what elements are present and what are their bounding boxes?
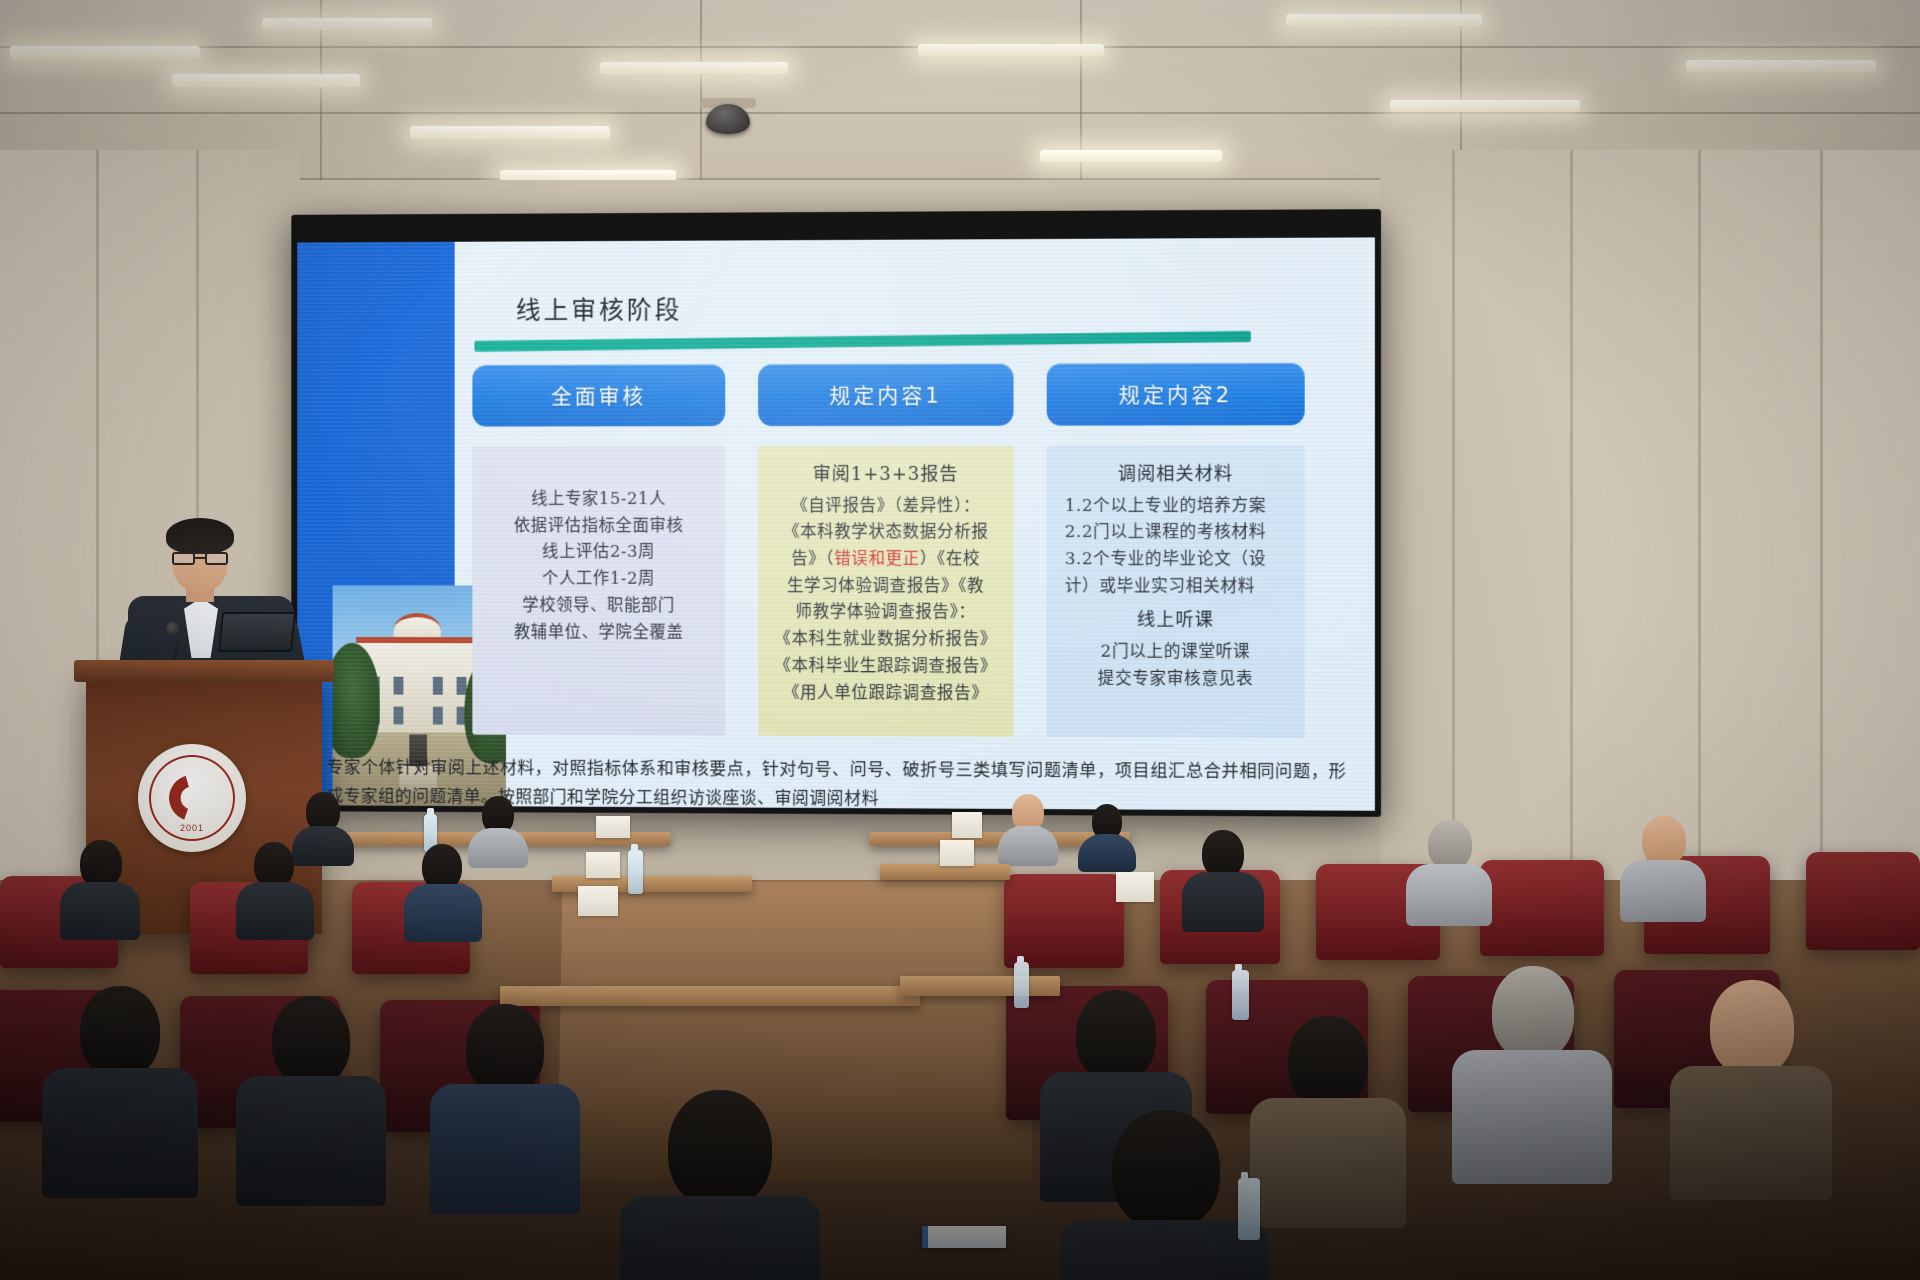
ceiling-light	[918, 44, 1104, 56]
column-1-line: 线上专家15-21人	[482, 486, 715, 513]
desk-row	[900, 976, 1060, 996]
audience-member	[60, 840, 140, 930]
dome-camera-icon	[706, 104, 750, 134]
column-2-line: 《本科毕业生跟踪调查报告》	[768, 653, 1003, 680]
handout-paper	[596, 816, 630, 838]
column-guiding-neirong-1: 规定内容1 审阅1+3+3报告 《自评报告》（差异性）： 《本科教学状态数据分析…	[758, 364, 1013, 737]
ceiling-light	[10, 46, 200, 59]
audience-area	[0, 790, 1920, 1280]
column-2-panel: 审阅1+3+3报告 《自评报告》（差异性）： 《本科教学状态数据分析报 告》（错…	[758, 446, 1013, 737]
column-1-panel: 线上专家15-21人 依据评估指标全面审核 线上评估2-3周 个人工作1-2周 …	[472, 446, 725, 735]
ceiling-light	[1390, 100, 1580, 112]
column-1-line: 依据评估指标全面审核	[482, 513, 715, 540]
handout-paper	[586, 852, 620, 878]
column-2-line: 《本科生就业数据分析报告》	[768, 626, 1003, 653]
column-2-line: 师教学体验调查报告》：	[768, 599, 1003, 626]
column-2-line: 《用人单位跟踪调查报告》	[768, 679, 1003, 706]
audience-member	[1620, 816, 1706, 916]
audience-member	[236, 996, 386, 1196]
column-3-panel: 调阅相关材料 1.2个以上专业的培养方案 2.2门以上课程的考核材料 3.2个专…	[1047, 445, 1305, 737]
audience-member	[620, 1090, 820, 1280]
column-1-line: 学校领导、职能部门	[482, 592, 715, 619]
water-bottle	[628, 850, 643, 894]
ceiling-light	[1040, 150, 1222, 162]
column-2-heading: 审阅1+3+3报告	[768, 460, 1003, 491]
column-1-line: 线上评估2-3周	[482, 539, 715, 566]
column-3-line: 2.2门以上课程的考核材料	[1057, 519, 1295, 546]
projection-screen-frame: 线上审核阶段 全面审核 线上专家15-21人 依据评估指标全面审核 线上评估2-…	[291, 209, 1381, 817]
handout-paper	[940, 840, 974, 866]
column-2-pill-label: 规定内容1	[829, 380, 942, 410]
desk-row	[880, 864, 1010, 880]
lecture-hall-scene: 线上审核阶段 全面审核 线上专家15-21人 依据评估指标全面审核 线上评估2-…	[0, 0, 1920, 1280]
projection-screen: 线上审核阶段 全面审核 线上专家15-21人 依据评估指标全面审核 线上评估2-…	[297, 237, 1375, 810]
audience-member	[996, 794, 1060, 858]
column-2-line: 《本科教学状态数据分析报	[768, 519, 1003, 546]
column-3-pill-label: 规定内容2	[1119, 379, 1233, 409]
auditorium-seat	[1480, 860, 1604, 956]
column-3-line: 计）或毕业实习相关材料	[1057, 573, 1295, 600]
audience-member	[430, 1004, 580, 1204]
column-3-subline: 2门以上的课堂听课	[1057, 639, 1295, 666]
audience-member	[42, 986, 198, 1186]
glasses-icon	[172, 552, 228, 565]
handout-paper	[952, 812, 982, 838]
speaker-hair	[166, 518, 234, 554]
desk-row	[500, 986, 920, 1006]
audience-member	[1182, 830, 1264, 926]
audience-member	[236, 842, 314, 932]
lectern-top-surface	[74, 660, 334, 682]
handout-paper	[1116, 872, 1154, 902]
column-1-line: 教辅单位、学院全覆盖	[482, 619, 715, 646]
column-3-heading: 调阅相关材料	[1057, 460, 1295, 491]
title-underline-rule	[474, 331, 1251, 352]
ceiling-light	[600, 62, 788, 74]
water-bottle	[1232, 970, 1249, 1020]
audience-member	[404, 844, 482, 934]
column-2-line-with-highlight: 告》（错误和更正）《在校	[768, 546, 1003, 573]
column-2-line: 生学习体验调查报告》《教	[768, 573, 1003, 600]
column-guiding-neirong-2: 规定内容2 调阅相关材料 1.2个以上专业的培养方案 2.2门以上课程的考核材料…	[1047, 363, 1305, 738]
audience-member	[1670, 980, 1832, 1190]
column-2-pill: 规定内容1	[758, 364, 1013, 427]
water-bottle	[1014, 962, 1029, 1008]
column-quanmian-shenhe: 全面审核 线上专家15-21人 依据评估指标全面审核 线上评估2-3周 个人工作…	[472, 364, 725, 735]
highlight-text: 错误和更正	[834, 549, 920, 568]
column-3-subline: 提交专家审核意见表	[1057, 665, 1295, 693]
laptop-screen	[218, 612, 296, 652]
auditorium-seat	[1004, 874, 1124, 968]
audience-member	[1078, 804, 1136, 862]
column-3-pill: 规定内容2	[1047, 363, 1305, 426]
ceiling-light	[1286, 14, 1482, 26]
audience-member	[1406, 820, 1492, 920]
ceiling-light	[172, 74, 360, 87]
column-1-pill-label: 全面审核	[551, 380, 646, 410]
presentation-slide: 线上审核阶段 全面审核 线上专家15-21人 依据评估指标全面审核 线上评估2-…	[297, 237, 1375, 810]
column-2-line: 《自评报告》（差异性）：	[768, 493, 1003, 520]
slide-columns: 全面审核 线上专家15-21人 依据评估指标全面审核 线上评估2-3周 个人工作…	[472, 363, 1346, 744]
handout-paper	[578, 886, 618, 916]
ceiling-light	[410, 126, 610, 139]
col2-l3-post: ）《在校	[920, 549, 980, 568]
audience-member	[1250, 1016, 1406, 1216]
presenter-laptop	[214, 612, 300, 658]
slide-title: 线上审核阶段	[516, 291, 683, 327]
col2-l3-pre: 告》（	[791, 549, 834, 568]
auditorium-seat	[1806, 852, 1920, 950]
column-3-subheading: 线上听课	[1057, 606, 1295, 637]
ceiling-light	[262, 18, 432, 30]
column-3-line: 3.2个专业的毕业论文（设	[1057, 546, 1295, 573]
water-bottle	[1238, 1178, 1260, 1240]
column-1-line: 个人工作1-2周	[482, 566, 715, 593]
ceiling-light	[1686, 60, 1876, 72]
column-3-line: 1.2个以上专业的培养方案	[1057, 492, 1295, 519]
open-book	[922, 1226, 1006, 1248]
column-1-pill: 全面审核	[472, 364, 725, 426]
audience-member	[1452, 966, 1612, 1176]
